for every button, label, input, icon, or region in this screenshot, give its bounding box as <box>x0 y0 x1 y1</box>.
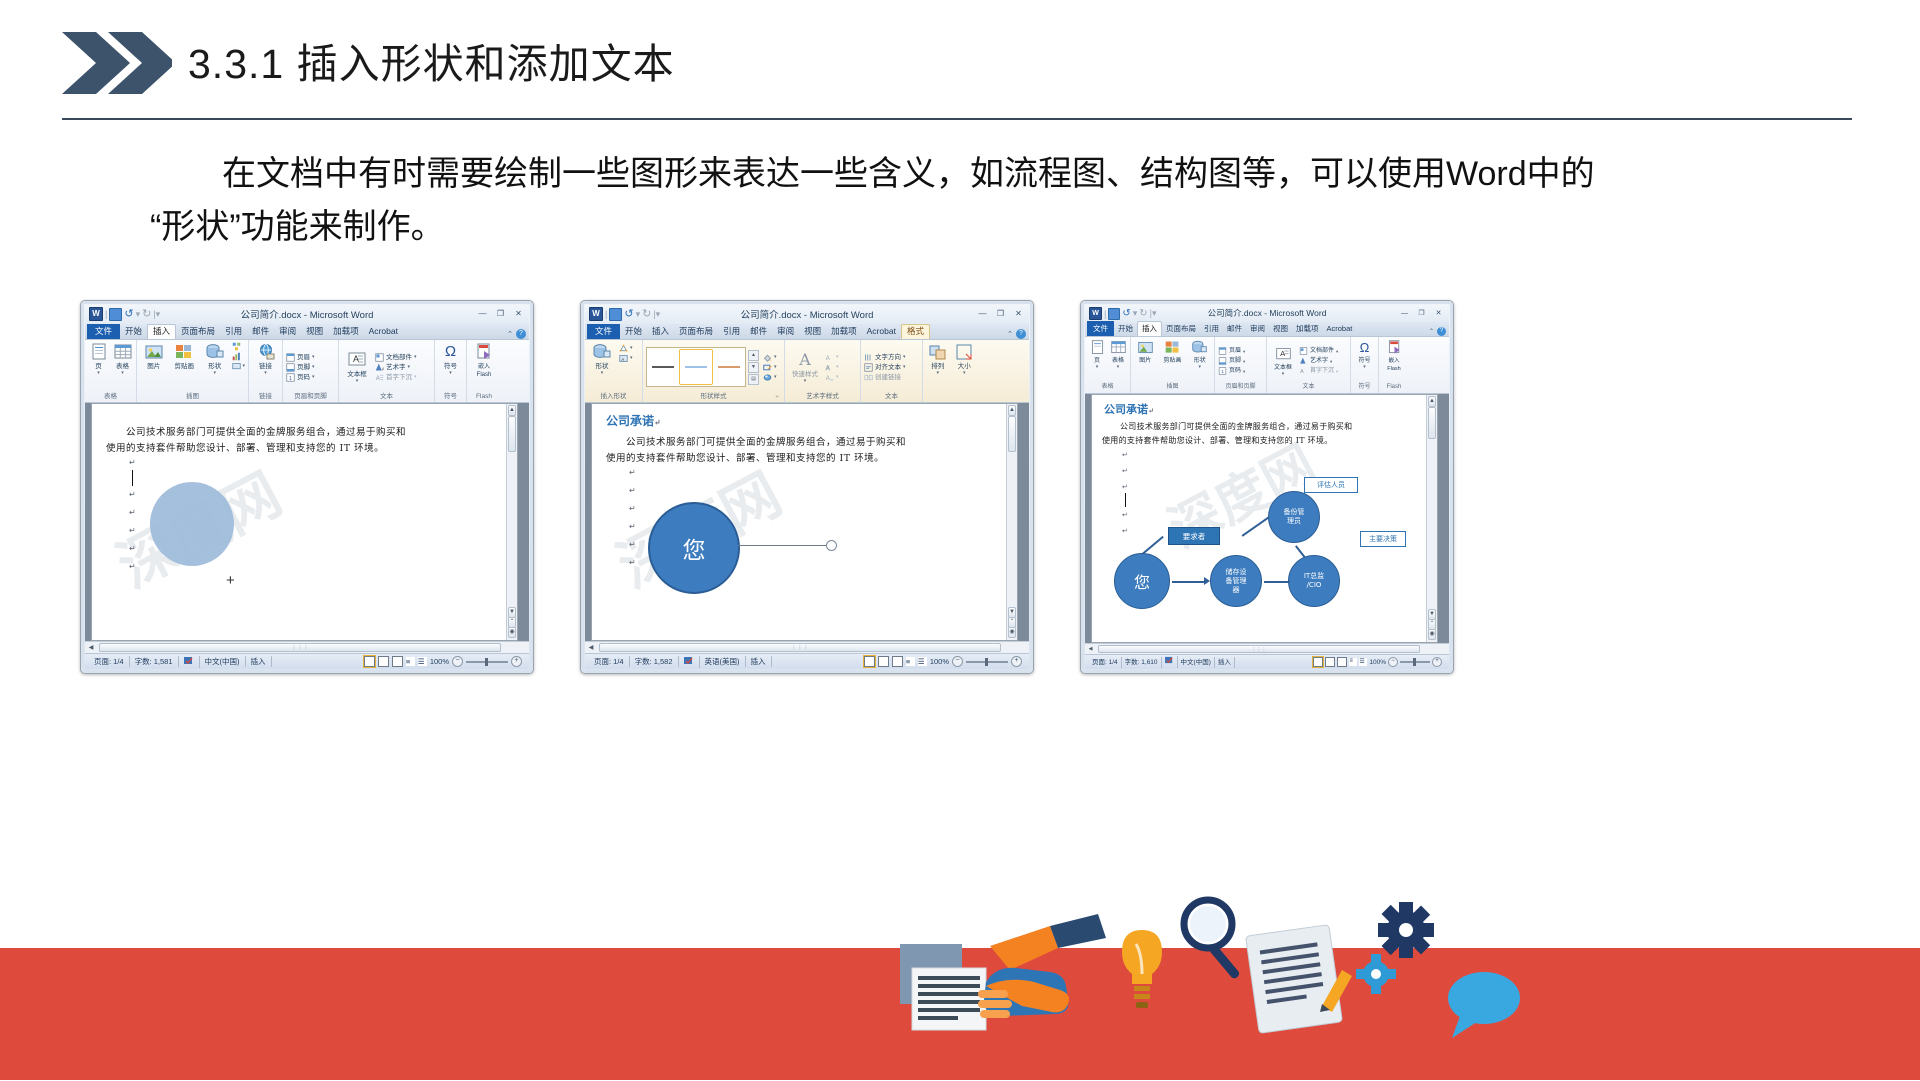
tab-insert[interactable]: 插入 <box>1137 321 1162 336</box>
gallery-more-icon[interactable]: ▤ <box>748 374 759 385</box>
collapse-ribbon-icon[interactable]: ⌃ <box>1007 330 1013 338</box>
drawn-circle-shape-1[interactable] <box>150 482 234 566</box>
shape-fill-button[interactable]: ▾ <box>763 353 777 362</box>
hyperlink-button[interactable]: 链接 ▾ <box>252 342 279 376</box>
close-icon[interactable]: ✕ <box>1432 308 1445 319</box>
zoom-out-icon[interactable]: − <box>952 656 963 667</box>
zoom-control-1[interactable]: 100% − + <box>430 656 522 667</box>
textbox-icon: A <box>347 350 367 370</box>
shape-effects-icon <box>763 373 772 382</box>
zoom-in-icon[interactable]: + <box>1011 656 1022 667</box>
wordart-quickstyles-button[interactable]: A 快速样式 ▾ <box>788 350 822 384</box>
text-effects-button[interactable]: A ▾ <box>825 373 839 382</box>
tab-pagelayout[interactable]: 页面布局 <box>176 325 220 339</box>
status-bar-2[interactable]: 页面: 1/4 字数: 1,582 英语(美国) 插入 ≡ ☰ 100% − + <box>585 653 1029 669</box>
tab-format[interactable]: 格式 <box>901 324 930 339</box>
tab-references[interactable]: 引用 <box>220 325 247 339</box>
tab-file[interactable]: 文件 <box>1087 321 1114 336</box>
pages-dropdown-icon[interactable]: ▾ <box>1096 365 1099 370</box>
pagenumber-dropdown-icon[interactable]: ▾ <box>312 373 315 382</box>
smartart-button[interactable] <box>232 342 246 351</box>
diagram-node-requester[interactable]: 要求者 <box>1168 527 1220 545</box>
select-browse-object-icon[interactable]: ◉ <box>1008 627 1016 638</box>
tab-mailings[interactable]: 邮件 <box>745 325 772 339</box>
text-fill-button[interactable]: A ▾ <box>825 353 839 362</box>
header-button[interactable]: 页眉 ▾ <box>1218 347 1245 356</box>
fullscreen-reading-view-icon[interactable] <box>878 656 889 667</box>
zoom-in-icon[interactable]: + <box>1432 657 1442 667</box>
spellcheck-icon[interactable] <box>679 656 700 668</box>
scroll-up-icon[interactable]: ▲ <box>1008 405 1016 416</box>
chart-icon <box>232 352 241 361</box>
zoom-control-2[interactable]: 100% − + <box>930 656 1022 667</box>
ribbon-tabs-right-1[interactable]: ⌃ ? <box>507 329 529 339</box>
document-page-2[interactable]: 深度网 公司承诺↵ 公司技术服务部门可提供全面的金牌服务组合，通过易于购买和 使… <box>591 403 1018 641</box>
align-text-button[interactable]: 对齐文本 ▾ <box>864 363 906 372</box>
connector-line-2[interactable] <box>738 545 828 546</box>
shapes-dropdown-icon[interactable]: ▾ <box>1199 365 1202 370</box>
crosshair-cursor-icon: + <box>226 572 235 589</box>
pilcrow-mark: ↵ <box>654 417 661 427</box>
print-layout-view-icon[interactable] <box>864 656 875 667</box>
status-language[interactable]: 英语(美国) <box>700 656 746 667</box>
titlebar-1: W | ↺ ▾ ↻ |▾ 公司简介.docx - Microsoft Word … <box>85 305 529 324</box>
restore-icon[interactable]: ❐ <box>1415 308 1428 319</box>
footer-dropdown-icon[interactable]: ▾ <box>1243 357 1245 366</box>
draft-view-icon[interactable]: ☰ <box>918 657 927 666</box>
ribbon-tabs-1[interactable]: 文件 开始 插入 页面布局 引用 邮件 审阅 视图 加载项 Acrobat ⌃ … <box>85 324 529 340</box>
chart-button[interactable] <box>232 352 246 361</box>
zoom-level[interactable]: 100% <box>1369 659 1386 666</box>
scroll-up-icon[interactable]: ▲ <box>508 405 516 416</box>
illustration-svg <box>890 886 1590 1076</box>
shape-fill-dropdown-icon[interactable]: ▾ <box>774 353 777 362</box>
header-dropdown-icon[interactable]: ▾ <box>312 353 315 362</box>
pilcrow-mark: ↵ <box>129 526 136 535</box>
picture-button[interactable]: 图片 <box>140 342 168 371</box>
tab-acrobat[interactable]: Acrobat <box>364 325 403 339</box>
window-buttons-3[interactable]: — ❐ ✕ <box>1398 308 1445 319</box>
zoom-level[interactable]: 100% <box>430 657 449 666</box>
pagenumber-button[interactable]: 1 页码 ▾ <box>1218 367 1245 376</box>
footer-button[interactable]: 页脚 ▾ <box>1218 357 1245 366</box>
circle-shape-label-2: 您 <box>683 531 706 565</box>
hscroll-thumb-3[interactable]: ⋮⋮⋮ <box>1098 645 1420 653</box>
tab-addins[interactable]: 加载项 <box>328 325 364 339</box>
screenshot-icon <box>232 362 241 371</box>
restore-icon[interactable]: ❐ <box>494 308 507 319</box>
diagram-node-decision-maker[interactable]: 主要决策 <box>1360 531 1406 547</box>
zoom-track[interactable] <box>966 661 1008 663</box>
doc-paragraph-line1-1: 公司技术服务部门可提供全面的金牌服务组合，通过易于购买和 <box>126 424 406 438</box>
status-mode[interactable]: 插入 <box>1215 657 1235 668</box>
tab-insert[interactable]: 插入 <box>147 324 176 339</box>
clipart-button[interactable]: 剪贴画 <box>1159 339 1185 365</box>
text-outline-button[interactable]: A ▾ <box>825 363 839 372</box>
status-words[interactable]: 字数: 1,581 <box>130 656 179 667</box>
header-dropdown-icon[interactable]: ▾ <box>1243 347 1245 356</box>
diagram-node-assessor[interactable]: 评估人员 <box>1304 477 1358 493</box>
arrange-button[interactable]: 排列 ▾ <box>926 342 950 376</box>
close-icon[interactable]: ✕ <box>512 308 525 319</box>
status-mode[interactable]: 插入 <box>746 656 772 667</box>
horizontal-scrollbar-1[interactable]: ◀ ⋮⋮⋮ <box>85 641 529 653</box>
collapse-ribbon-icon[interactable]: ⌃ <box>1429 328 1434 335</box>
diagram-node-you[interactable]: 您 <box>1114 553 1170 609</box>
embed-flash-button[interactable]: 嵌入 Flash <box>1382 339 1406 373</box>
spellcheck-icon[interactable] <box>1162 656 1178 668</box>
dropcap-icon: A <box>1299 367 1308 375</box>
fullscreen-reading-view-icon[interactable] <box>378 656 389 667</box>
tab-review[interactable]: 审阅 <box>1246 322 1269 336</box>
hscroll-thumb-2[interactable]: ⋮⋮⋮ <box>599 643 1001 652</box>
status-mode[interactable]: 插入 <box>246 656 272 667</box>
outline-view-icon[interactable]: ≡ <box>906 657 915 666</box>
shapes-button[interactable]: 形状 ▾ <box>588 342 616 376</box>
view-buttons-1[interactable]: ≡ ☰ 100% − + <box>364 656 525 667</box>
status-words[interactable]: 字数: 1,610 <box>1122 657 1162 668</box>
status-language[interactable]: 中文(中国) <box>1178 657 1215 668</box>
shapes-button[interactable]: 形状 ▾ <box>1189 339 1211 370</box>
tab-acrobat[interactable]: Acrobat <box>1323 322 1357 336</box>
zoom-track[interactable] <box>1400 661 1430 663</box>
picture-button[interactable]: 图片 <box>1134 339 1156 365</box>
zoom-in-icon[interactable]: + <box>511 656 522 667</box>
print-layout-view-icon[interactable] <box>364 656 375 667</box>
spellcheck-glyph <box>1165 656 1174 664</box>
zoom-out-icon[interactable]: − <box>1388 657 1398 667</box>
zoom-thumb[interactable] <box>985 658 988 666</box>
word-window-1[interactable]: W | ↺ ▾ ↻ |▾ 公司简介.docx - Microsoft Word … <box>80 300 534 674</box>
ribbon-group-flash-3: 嵌入 Flash Flash <box>1379 337 1409 393</box>
tab-home[interactable]: 开始 <box>1114 322 1137 336</box>
vertical-scrollbar-3[interactable]: ▲ ▼ ⌃ ◉ <box>1426 395 1437 642</box>
footer-dropdown-icon[interactable]: ▾ <box>312 363 315 372</box>
document-area-2[interactable]: 深度网 公司承诺↵ 公司技术服务部门可提供全面的金牌服务组合，通过易于购买和 使… <box>585 403 1029 641</box>
pilcrow-mark: ↵ <box>629 540 636 549</box>
clipboard-icon <box>1246 925 1352 1034</box>
table-dropdown-icon[interactable]: ▾ <box>1117 365 1120 370</box>
ribbon-group-illustrations-3: 图片 剪贴画 形状 ▾ 插图 <box>1131 337 1215 393</box>
symbol-dropdown-icon[interactable]: ▾ <box>1363 365 1366 370</box>
gallery-scroll-down-icon[interactable]: ▼ <box>748 362 759 373</box>
zoom-out-icon[interactable]: − <box>452 656 463 667</box>
tab-home[interactable]: 开始 <box>620 325 647 339</box>
outline-view-icon[interactable]: ≡ <box>406 657 415 666</box>
doc-heading-2: 公司承诺↵ <box>606 412 661 429</box>
tab-view[interactable]: 视图 <box>301 325 328 339</box>
ribbon-tabs-right-2[interactable]: ⌃ ? <box>1007 329 1029 339</box>
group-label-headerfooter: 页眉和页脚 <box>286 392 335 402</box>
tab-mailings[interactable]: 邮件 <box>247 325 274 339</box>
web-layout-view-icon[interactable] <box>892 656 903 667</box>
zoom-track[interactable] <box>466 661 508 663</box>
minimize-icon[interactable]: — <box>1398 308 1411 319</box>
group-label-symbols: 符号 <box>438 392 463 402</box>
picture-label: 图片 <box>147 363 160 371</box>
align-text-dropdown-icon[interactable]: ▾ <box>903 363 906 372</box>
table-button[interactable]: 表格 ▾ <box>1109 339 1127 370</box>
shape-style-orange[interactable] <box>713 350 745 384</box>
wordart-dropdown-icon[interactable]: ▾ <box>408 363 411 372</box>
tab-mailings[interactable]: 邮件 <box>1223 322 1246 336</box>
restore-icon[interactable]: ❐ <box>994 308 1007 319</box>
ribbon-group-symbols-3: Ω 符号 ▾ 符号 <box>1351 337 1379 393</box>
size-dropdown-icon[interactable]: ▾ <box>963 371 966 376</box>
picture-icon <box>1137 339 1154 356</box>
word-window-2[interactable]: W | ↺ ▾ ↻ |▾ 公司简介.docx - Microsoft Word … <box>580 300 1034 674</box>
document-page-1[interactable]: 深度网 公司技术服务部门可提供全面的金牌服务组合，通过易于购买和 使用的支持套件… <box>91 403 518 641</box>
shape-styles-gallery[interactable] <box>646 347 746 387</box>
text-fill-dropdown-icon[interactable]: ▾ <box>836 353 839 362</box>
ribbon-tabs-3[interactable]: 文件 开始 插入 页面布局 引用 邮件 审阅 视图 加载项 Acrobat ⌃ … <box>1085 322 1449 337</box>
clipart-icon <box>1164 339 1181 356</box>
embed-flash-button[interactable]: 嵌入 Flash <box>470 342 498 379</box>
help-icon[interactable]: ? <box>1437 327 1446 336</box>
connector-endpoint-handle[interactable] <box>826 540 837 551</box>
collapse-ribbon-icon[interactable]: ⌃ <box>507 330 513 338</box>
dropcap-button[interactable]: A 首字下沉 ▾ <box>1299 367 1338 376</box>
shape-effects-button[interactable]: ▾ <box>763 373 777 382</box>
document-area-1[interactable]: 深度网 公司技术服务部门可提供全面的金牌服务组合，通过易于购买和 使用的支持套件… <box>85 403 529 641</box>
pilcrow-mark: ↵ <box>629 468 636 477</box>
table-dropdown-icon[interactable]: ▾ <box>121 371 124 376</box>
scroll-left-icon[interactable]: ◀ <box>1085 646 1096 652</box>
shape-outline-button[interactable]: ▾ <box>763 363 777 372</box>
horizontal-scrollbar-3[interactable]: ◀ ⋮⋮⋮ <box>1085 643 1449 654</box>
ribbon-tabs-2[interactable]: 文件 开始 插入 页面布局 引用 邮件 审阅 视图 加载项 Acrobat 格式… <box>585 324 1029 340</box>
fullscreen-reading-view-icon[interactable] <box>1325 657 1335 667</box>
minimize-icon[interactable]: — <box>476 308 489 319</box>
zoom-control-3[interactable]: 100% − + <box>1369 657 1442 667</box>
text-outline-dropdown-icon[interactable]: ▾ <box>836 363 839 372</box>
table-icon <box>1110 339 1127 356</box>
status-words[interactable]: 字数: 1,582 <box>630 656 679 667</box>
zoom-thumb[interactable] <box>1413 658 1416 666</box>
doc-paragraph-line2-2: 使用的支持套件帮助您设计、部署、管理和支持您的 IT 环境。 <box>606 450 884 464</box>
scroll-up-icon[interactable]: ▲ <box>1428 396 1436 407</box>
window-buttons-2[interactable]: — ❐ ✕ <box>976 308 1025 319</box>
select-browse-object-icon[interactable]: ◉ <box>1428 629 1436 640</box>
pilcrow-mark: ↵ <box>629 486 636 495</box>
shapes-dropdown-icon[interactable]: ▾ <box>213 371 216 376</box>
textbox-dropdown-icon[interactable]: ▾ <box>630 354 633 363</box>
gallery-scroll-up-icon[interactable]: ▲ <box>748 350 759 361</box>
tab-review[interactable]: 审阅 <box>772 325 799 339</box>
gear-icon <box>1356 902 1434 994</box>
create-link-button[interactable]: 创建链接 <box>864 373 906 382</box>
wordart-button[interactable]: A 艺术字 ▾ <box>375 363 417 372</box>
ribbon-1[interactable]: 页 ▾ 表格 ▾ 表格 图片 <box>85 340 529 403</box>
screenshot-button[interactable]: ▾ <box>232 362 246 371</box>
tab-references[interactable]: 引用 <box>718 325 745 339</box>
header-button[interactable]: 页眉 ▾ <box>286 353 315 362</box>
shape-style-dark[interactable] <box>647 350 679 384</box>
shapes-icon <box>592 342 612 362</box>
edit-shape-dropdown-icon[interactable]: ▾ <box>630 344 633 353</box>
pages-button[interactable]: 页 ▾ <box>1088 339 1106 370</box>
draw-textbox-button[interactable]: A ▾ <box>619 354 633 363</box>
lined-document-icon <box>900 944 986 1030</box>
spellcheck-icon[interactable] <box>179 656 200 668</box>
embed-flash-label: 嵌入 Flash <box>1382 357 1406 373</box>
wordart-quickstyles-dropdown-icon[interactable]: ▾ <box>804 379 807 384</box>
pages-button[interactable]: 页 ▾ <box>88 342 109 376</box>
document-page-3[interactable]: 深度网 公司承诺↵ 公司技术服务部门可提供全面的金牌服务组合，通过易于购买和 使… <box>1091 394 1438 643</box>
body-line-1: 在文档中有时需要绘制一些图形来表达一些含义，如流程图、结构图等，可以使用Word… <box>222 155 1595 193</box>
tab-acrobat[interactable]: Acrobat <box>862 325 901 339</box>
arrange-dropdown-icon[interactable]: ▾ <box>936 371 939 376</box>
tab-pagelayout[interactable]: 页面布局 <box>674 325 718 339</box>
document-area-3[interactable]: 深度网 公司承诺↵ 公司技术服务部门可提供全面的金牌服务组合，通过易于购买和 使… <box>1085 394 1449 643</box>
smartart-icon <box>232 342 241 351</box>
outline-view-icon[interactable]: ≡ <box>1349 658 1357 666</box>
group-items: 嵌入 Flash <box>1382 339 1406 383</box>
wordart-dropdown-icon[interactable]: ▾ <box>1330 357 1332 366</box>
pagenumber-button[interactable]: 1 页码 ▾ <box>286 373 315 382</box>
print-layout-view-icon[interactable] <box>1313 657 1323 667</box>
quickparts-button[interactable]: 文档部件 ▾ <box>375 353 417 362</box>
tab-file[interactable]: 文件 <box>87 324 120 339</box>
textbox-button[interactable]: A 文本框 ▾ <box>342 350 372 384</box>
tab-insert[interactable]: 插入 <box>647 325 674 339</box>
web-layout-view-icon[interactable] <box>392 656 403 667</box>
vscroll-thumb[interactable] <box>1428 407 1436 439</box>
tab-view[interactable]: 视图 <box>799 325 826 339</box>
scroll-left-icon[interactable]: ◀ <box>585 644 597 651</box>
connector-you-to-storage <box>1172 581 1206 583</box>
view-buttons-3[interactable]: ≡ ☰ 100% − + <box>1313 657 1445 667</box>
tab-file[interactable]: 文件 <box>587 324 620 339</box>
vscroll-thumb[interactable] <box>508 416 516 452</box>
symbol-button[interactable]: Ω 符号 ▾ <box>438 342 463 376</box>
textbox-dropdown-icon[interactable]: ▾ <box>1282 372 1285 377</box>
tab-view[interactable]: 视图 <box>1269 322 1292 336</box>
scroll-left-icon[interactable]: ◀ <box>85 644 97 651</box>
status-page[interactable]: 页面: 1/4 <box>1089 657 1122 668</box>
tab-addins[interactable]: 加载项 <box>826 325 862 339</box>
ribbon-2[interactable]: 形状 ▾ ▾ A ▾ 插入形状 <box>585 340 1029 403</box>
shapes-button[interactable]: 形状 ▾ <box>201 342 229 376</box>
vertical-scrollbar-2[interactable]: ▲ ▼ ⌃ ◉ <box>1006 404 1017 640</box>
table-button[interactable]: 表格 ▾ <box>112 342 133 376</box>
diagram-node-storage-admin[interactable]: 储存设 备管理 器 <box>1210 555 1262 607</box>
view-buttons-2[interactable]: ≡ ☰ 100% − + <box>864 656 1025 667</box>
ribbon-3[interactable]: 页 ▾ 表格 ▾ 表格 图片 <box>1085 337 1449 394</box>
shapes-dropdown-icon[interactable]: ▾ <box>601 371 604 376</box>
group-label-text-3: 文本 <box>1270 383 1347 393</box>
clipart-button[interactable]: 剪贴画 <box>171 342 199 371</box>
svg-text:A: A <box>1300 369 1304 375</box>
edit-shape-button[interactable]: ▾ <box>619 344 633 353</box>
status-bar-3[interactable]: 页面: 1/4 字数: 1,610 中文(中国) 插入 ≡ ☰ 100% − + <box>1085 654 1449 669</box>
dropcap-icon: A <box>375 373 384 382</box>
align-text-label: 对齐文本 <box>875 363 901 372</box>
dropcap-button[interactable]: A 首字下沉 ▾ <box>375 373 417 382</box>
dialog-launcher-icon[interactable]: ⌐ <box>775 393 779 402</box>
vertical-scrollbar-1[interactable]: ▲ ▼ ⌃ ◉ <box>506 404 517 640</box>
tab-review[interactable]: 审阅 <box>274 325 301 339</box>
draft-view-icon[interactable]: ☰ <box>418 657 427 666</box>
shape-style-blue-selected[interactable] <box>679 349 713 385</box>
size-icon <box>954 342 974 362</box>
group-items: ▲ ▼ ▤ ▾ ▾ <box>646 342 781 392</box>
wordart-icon <box>1299 357 1308 365</box>
status-page[interactable]: 页面: 1/4 <box>89 656 130 667</box>
status-page[interactable]: 页面: 1/4 <box>589 656 630 667</box>
dropcap-label: 首字下沉 <box>386 373 412 382</box>
help-icon[interactable]: ? <box>516 329 526 339</box>
screenshot-dropdown-icon[interactable]: ▾ <box>243 362 246 371</box>
vscroll-thumb[interactable] <box>1008 416 1016 452</box>
group-label-text-2: 文本 <box>864 392 919 402</box>
textbox-dropdown-icon[interactable]: ▾ <box>356 379 359 384</box>
diagram-node-it-director[interactable]: IT总监 /CIO <box>1288 555 1340 607</box>
pagenumber-dropdown-icon[interactable]: ▾ <box>1243 367 1245 376</box>
dropcap-dropdown-icon[interactable]: ▾ <box>414 373 417 382</box>
tab-references[interactable]: 引用 <box>1200 322 1223 336</box>
quickparts-dropdown-icon[interactable]: ▾ <box>1336 347 1338 356</box>
window-title-3: 公司简介.docx - Microsoft Word <box>1085 307 1449 319</box>
quickparts-dropdown-icon[interactable]: ▾ <box>414 353 417 362</box>
group-items: 页眉 ▾ 页脚 ▾ 1 页码 ▾ <box>286 342 335 392</box>
gallery-scroll-buttons[interactable]: ▲ ▼ ▤ <box>748 350 759 385</box>
links-dropdown-icon[interactable]: ▾ <box>264 371 267 376</box>
hscroll-thumb-1[interactable]: ⋮⋮⋮ <box>99 643 501 652</box>
group-items: 页 ▾ 表格 ▾ <box>1088 339 1127 383</box>
zoom-level[interactable]: 100% <box>930 657 949 666</box>
tab-home[interactable]: 开始 <box>120 325 147 339</box>
minimize-icon[interactable]: — <box>976 308 989 319</box>
word-window-3[interactable]: W | ↺ ▾ ↻ |▾ 公司简介.docx - Microsoft Word … <box>1080 300 1454 674</box>
help-icon[interactable]: ? <box>1016 329 1026 339</box>
tab-pagelayout[interactable]: 页面布局 <box>1162 322 1200 336</box>
shape-effects-dropdown-icon[interactable]: ▾ <box>774 373 777 382</box>
speech-bubble-icon <box>1448 972 1520 1038</box>
wordart-button[interactable]: 艺术字 ▾ <box>1299 357 1338 366</box>
close-icon[interactable]: ✕ <box>1012 308 1025 319</box>
horizontal-scrollbar-2[interactable]: ◀ ⋮⋮⋮ <box>585 641 1029 653</box>
select-browse-object-icon[interactable]: ◉ <box>508 627 516 638</box>
status-language[interactable]: 中文(中国) <box>200 656 246 667</box>
window-buttons-1[interactable]: — ❐ ✕ <box>476 308 525 319</box>
zoom-thumb[interactable] <box>485 658 488 666</box>
symbol-dropdown-icon[interactable]: ▾ <box>449 371 452 376</box>
text-effects-dropdown-icon[interactable]: ▾ <box>836 373 839 382</box>
group-items: A 文本框 ▾ 文档部件 ▾ 艺术字 ▾ <box>1270 339 1347 383</box>
spellcheck-glyph <box>684 656 694 665</box>
ribbon-tabs-right-3[interactable]: ⌃ ? <box>1429 327 1449 336</box>
pages-dropdown-icon[interactable]: ▾ <box>97 371 100 376</box>
quickparts-button[interactable]: 文档部件 ▾ <box>1299 347 1338 356</box>
pilcrow-mark: ↵ <box>1122 483 1128 491</box>
diagram-node-backup-admin[interactable]: 备份管 理员 <box>1268 491 1320 543</box>
text-direction-dropdown-icon[interactable]: ▾ <box>903 353 906 362</box>
tab-addins[interactable]: 加载项 <box>1292 322 1323 336</box>
symbol-button[interactable]: Ω 符号 ▾ <box>1354 339 1375 370</box>
shape-outline-dropdown-icon[interactable]: ▾ <box>774 363 777 372</box>
status-bar-1[interactable]: 页面: 1/4 字数: 1,581 中文(中国) 插入 ≡ ☰ 100% − + <box>85 653 529 669</box>
text-direction-button[interactable]: 文字方向 ▾ <box>864 353 906 362</box>
selected-circle-shape-2[interactable]: 您 <box>648 502 740 594</box>
size-button[interactable]: 大小 ▾ <box>953 342 977 376</box>
textbox-button[interactable]: A 文本框 ▾ <box>1270 346 1296 377</box>
group-items: 链接 ▾ <box>252 342 279 392</box>
footer-button[interactable]: 页脚 ▾ <box>286 363 315 372</box>
web-layout-view-icon[interactable] <box>1337 657 1347 667</box>
draft-view-icon[interactable]: ☰ <box>1359 658 1367 666</box>
dropcap-dropdown-icon[interactable]: ▾ <box>1336 367 1338 376</box>
